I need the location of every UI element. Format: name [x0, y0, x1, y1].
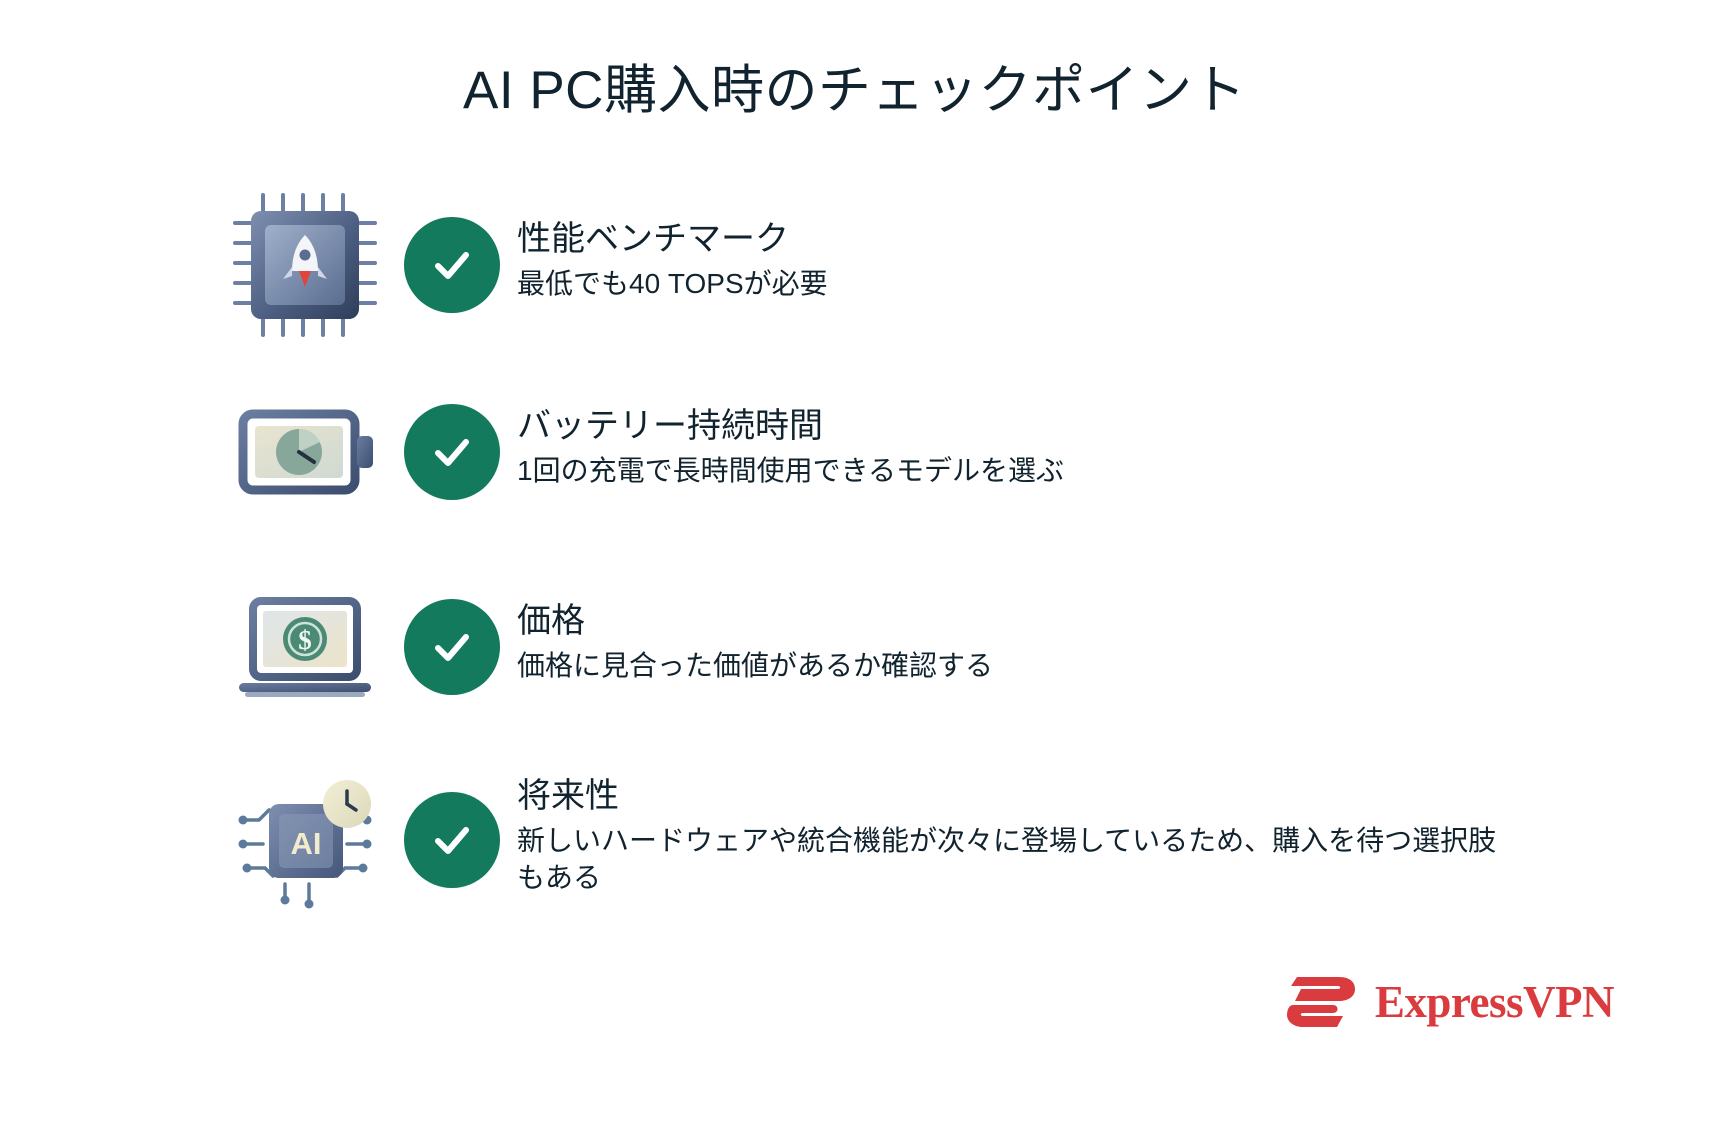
list-item-desc: 新しいハードウェアや統合機能が次々に登場しているため、購入を待つ選択肢もある: [517, 822, 1522, 897]
list-item-desc: 価格に見合った価値があるか確認する: [517, 647, 1522, 685]
list-item-desc: 最低でも40 TOPSが必要: [517, 265, 1522, 303]
checklist: 性能ベンチマーク 最低でも40 TOPSが必要: [222, 182, 1522, 943]
check-icon: [387, 182, 517, 347]
expressvpn-wordmark: ExpressVPN: [1375, 976, 1614, 1028]
list-item: $ 価格 価格に見合った価値があるか確認する: [222, 564, 1522, 729]
svg-text:AI: AI: [290, 826, 321, 861]
infographic-page: AI PC購入時のチェックポイント: [0, 0, 1709, 1121]
list-item: AI 将来性 新しいハードウェアや統合機能が次々に登場しているため、購入を待つ選…: [222, 755, 1522, 925]
check-icon: [387, 369, 517, 534]
check-icon: [387, 755, 517, 925]
ai-chip-clock-icon: AI: [222, 755, 387, 925]
list-item-text: 将来性 新しいハードウェアや統合機能が次々に登場しているため、購入を待つ選択肢も…: [517, 755, 1522, 897]
svg-text:$: $: [298, 625, 312, 655]
list-item-title: 価格: [517, 600, 1522, 643]
list-item-title: バッテリー持続時間: [517, 405, 1522, 448]
list-item: バッテリー持続時間 1回の充電で長時間使用できるモデルを選ぶ: [222, 369, 1522, 534]
list-item-title: 将来性: [517, 775, 1522, 818]
list-item-text: 価格 価格に見合った価値があるか確認する: [517, 564, 1522, 684]
cpu-rocket-icon: [222, 182, 387, 347]
page-title: AI PC購入時のチェックポイント: [0, 62, 1709, 120]
check-icon: [387, 564, 517, 729]
list-item-title: 性能ベンチマーク: [517, 218, 1522, 261]
battery-gauge-icon: [222, 369, 387, 534]
list-item-desc: 1回の充電で長時間使用できるモデルを選ぶ: [517, 452, 1522, 490]
expressvpn-logo: ExpressVPN: [1281, 971, 1614, 1033]
list-item-text: バッテリー持続時間 1回の充電で長時間使用できるモデルを選ぶ: [517, 369, 1522, 489]
expressvpn-e-mark-icon: [1281, 971, 1359, 1033]
list-item-text: 性能ベンチマーク 最低でも40 TOPSが必要: [517, 182, 1522, 302]
list-item: 性能ベンチマーク 最低でも40 TOPSが必要: [222, 182, 1522, 347]
laptop-dollar-icon: $: [222, 564, 387, 729]
